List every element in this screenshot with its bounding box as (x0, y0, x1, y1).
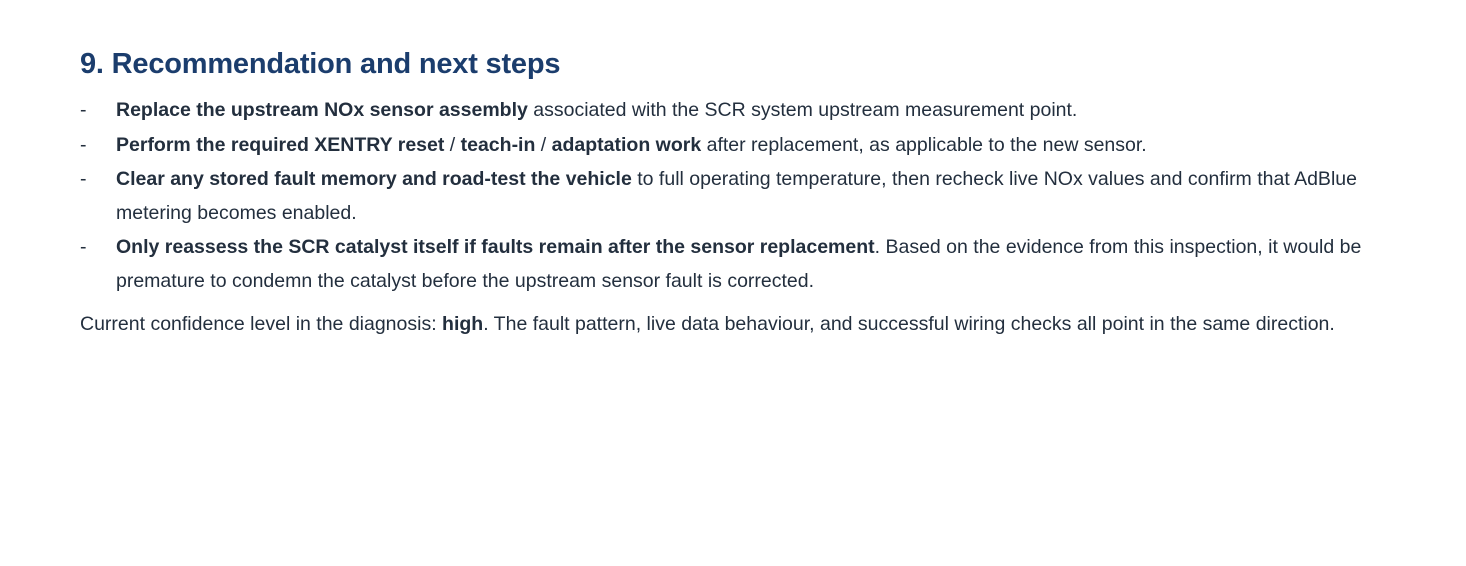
list-item: - Perform the required XENTRY reset / te… (80, 129, 1420, 163)
list-item-text: Only reassess the SCR catalyst itself if… (116, 231, 1420, 298)
confidence-tail: . The fault pattern, live data behaviour… (483, 313, 1335, 335)
list-item-rest: associated with the SCR system upstream … (528, 99, 1078, 121)
list-item-bold-lead: Clear any stored fault memory and road-t… (116, 168, 632, 190)
confidence-lead: Current confidence level in the diagnosi… (80, 313, 442, 335)
list-item-text: Perform the required XENTRY reset / teac… (116, 129, 1420, 163)
bullet-marker-icon: - (80, 231, 94, 265)
list-item: - Replace the upstream NOx sensor assemb… (80, 94, 1420, 128)
document-page: 9. Recommendation and next steps - Repla… (0, 0, 1466, 566)
list-item: - Only reassess the SCR catalyst itself … (80, 231, 1420, 298)
bullet-marker-icon: - (80, 129, 94, 163)
page-title: 9. Recommendation and next steps (80, 48, 1420, 81)
list-item-bold-lead: Replace the upstream NOx sensor assembly (116, 99, 528, 121)
list-item-bold-lead: Only reassess the SCR catalyst itself if… (116, 236, 875, 258)
list-item-text: Replace the upstream NOx sensor assembly… (116, 94, 1420, 128)
bullet-marker-icon: - (80, 94, 94, 128)
list-item-separator: / (535, 134, 551, 156)
list-item-text: Clear any stored fault memory and road-t… (116, 163, 1420, 230)
list-item-bold-lead: Perform the required XENTRY reset (116, 134, 444, 156)
list-item-separator: / (444, 134, 460, 156)
bullet-marker-icon: - (80, 163, 94, 197)
confidence-level-value: high (442, 313, 483, 335)
recommendation-list: - Replace the upstream NOx sensor assemb… (80, 94, 1420, 298)
list-item-bold-mid: teach-in (461, 134, 536, 156)
list-item-bold-tail: adaptation work (552, 134, 702, 156)
list-item: - Clear any stored fault memory and road… (80, 163, 1420, 230)
list-item-rest: after replacement, as applicable to the … (701, 134, 1147, 156)
confidence-statement: Current confidence level in the diagnosi… (80, 308, 1420, 342)
